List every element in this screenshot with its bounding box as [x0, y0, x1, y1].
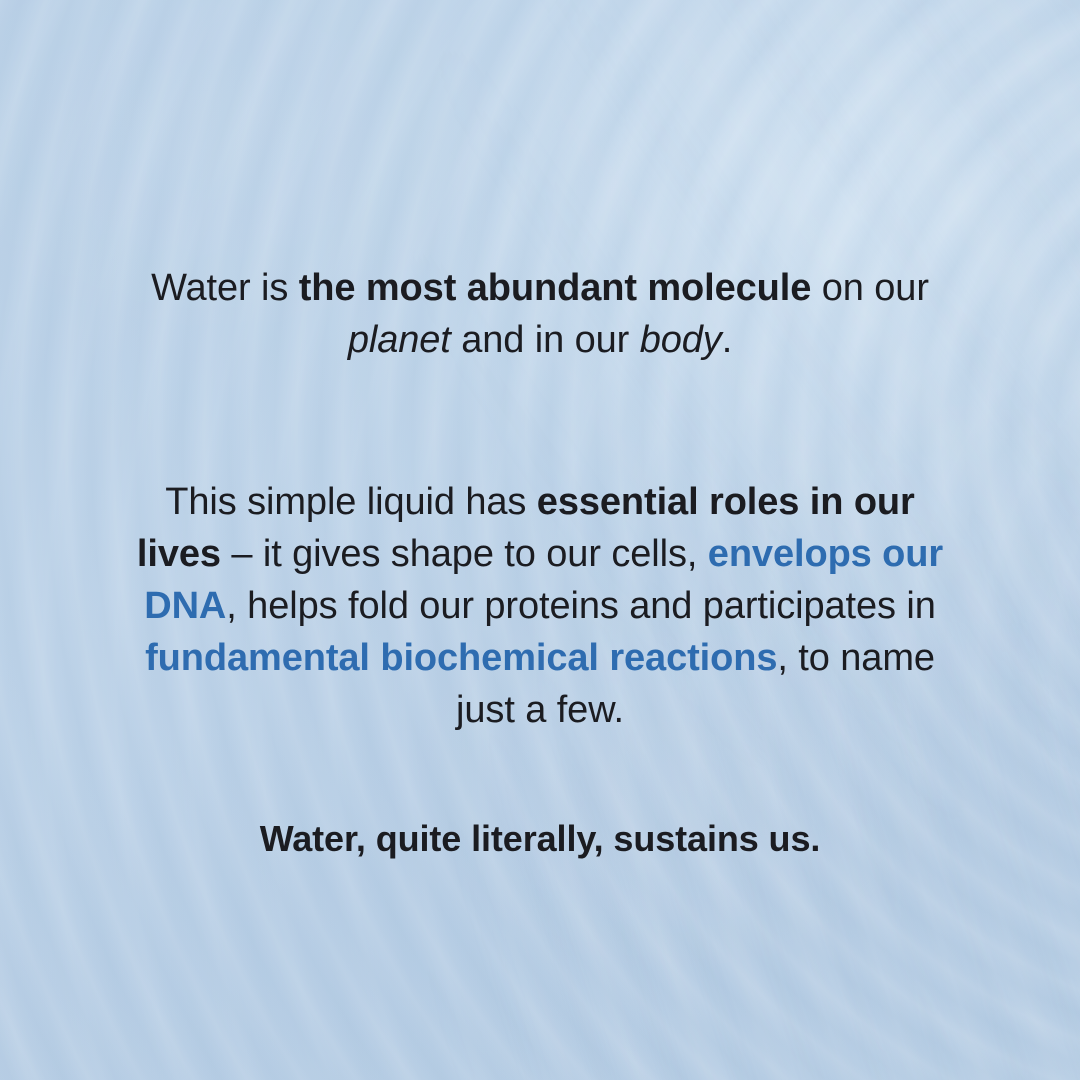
- text-run-bold-accent: fundamental biochemical reactions: [145, 637, 777, 679]
- quote-text-block: Water is the most abundant molecule on o…: [0, 262, 1080, 864]
- text-run-bold: the most abundant molecule: [299, 267, 812, 309]
- paragraph-one: Water is the most abundant molecule on o…: [130, 262, 950, 366]
- text-run-regular: and in our: [451, 319, 640, 361]
- text-run-regular: on our: [811, 267, 929, 309]
- text-run-italic: body: [640, 319, 722, 361]
- text-run-regular: Water is: [151, 267, 299, 309]
- paragraph-two: This simple liquid has essential roles i…: [130, 476, 950, 736]
- text-run-italic: planet: [348, 319, 451, 361]
- text-run-regular: This simple liquid has: [165, 481, 537, 523]
- water-quote-card: Water is the most abundant molecule on o…: [0, 0, 1080, 1080]
- text-run-regular: , helps fold our proteins and participat…: [226, 585, 936, 627]
- text-run-regular: .: [722, 319, 732, 361]
- text-run-regular: – it gives shape to our cells,: [221, 533, 708, 575]
- paragraph-three-closing: Water, quite literally, sustains us.: [130, 814, 950, 864]
- text-run-bold: Water, quite literally, sustains us.: [260, 818, 821, 859]
